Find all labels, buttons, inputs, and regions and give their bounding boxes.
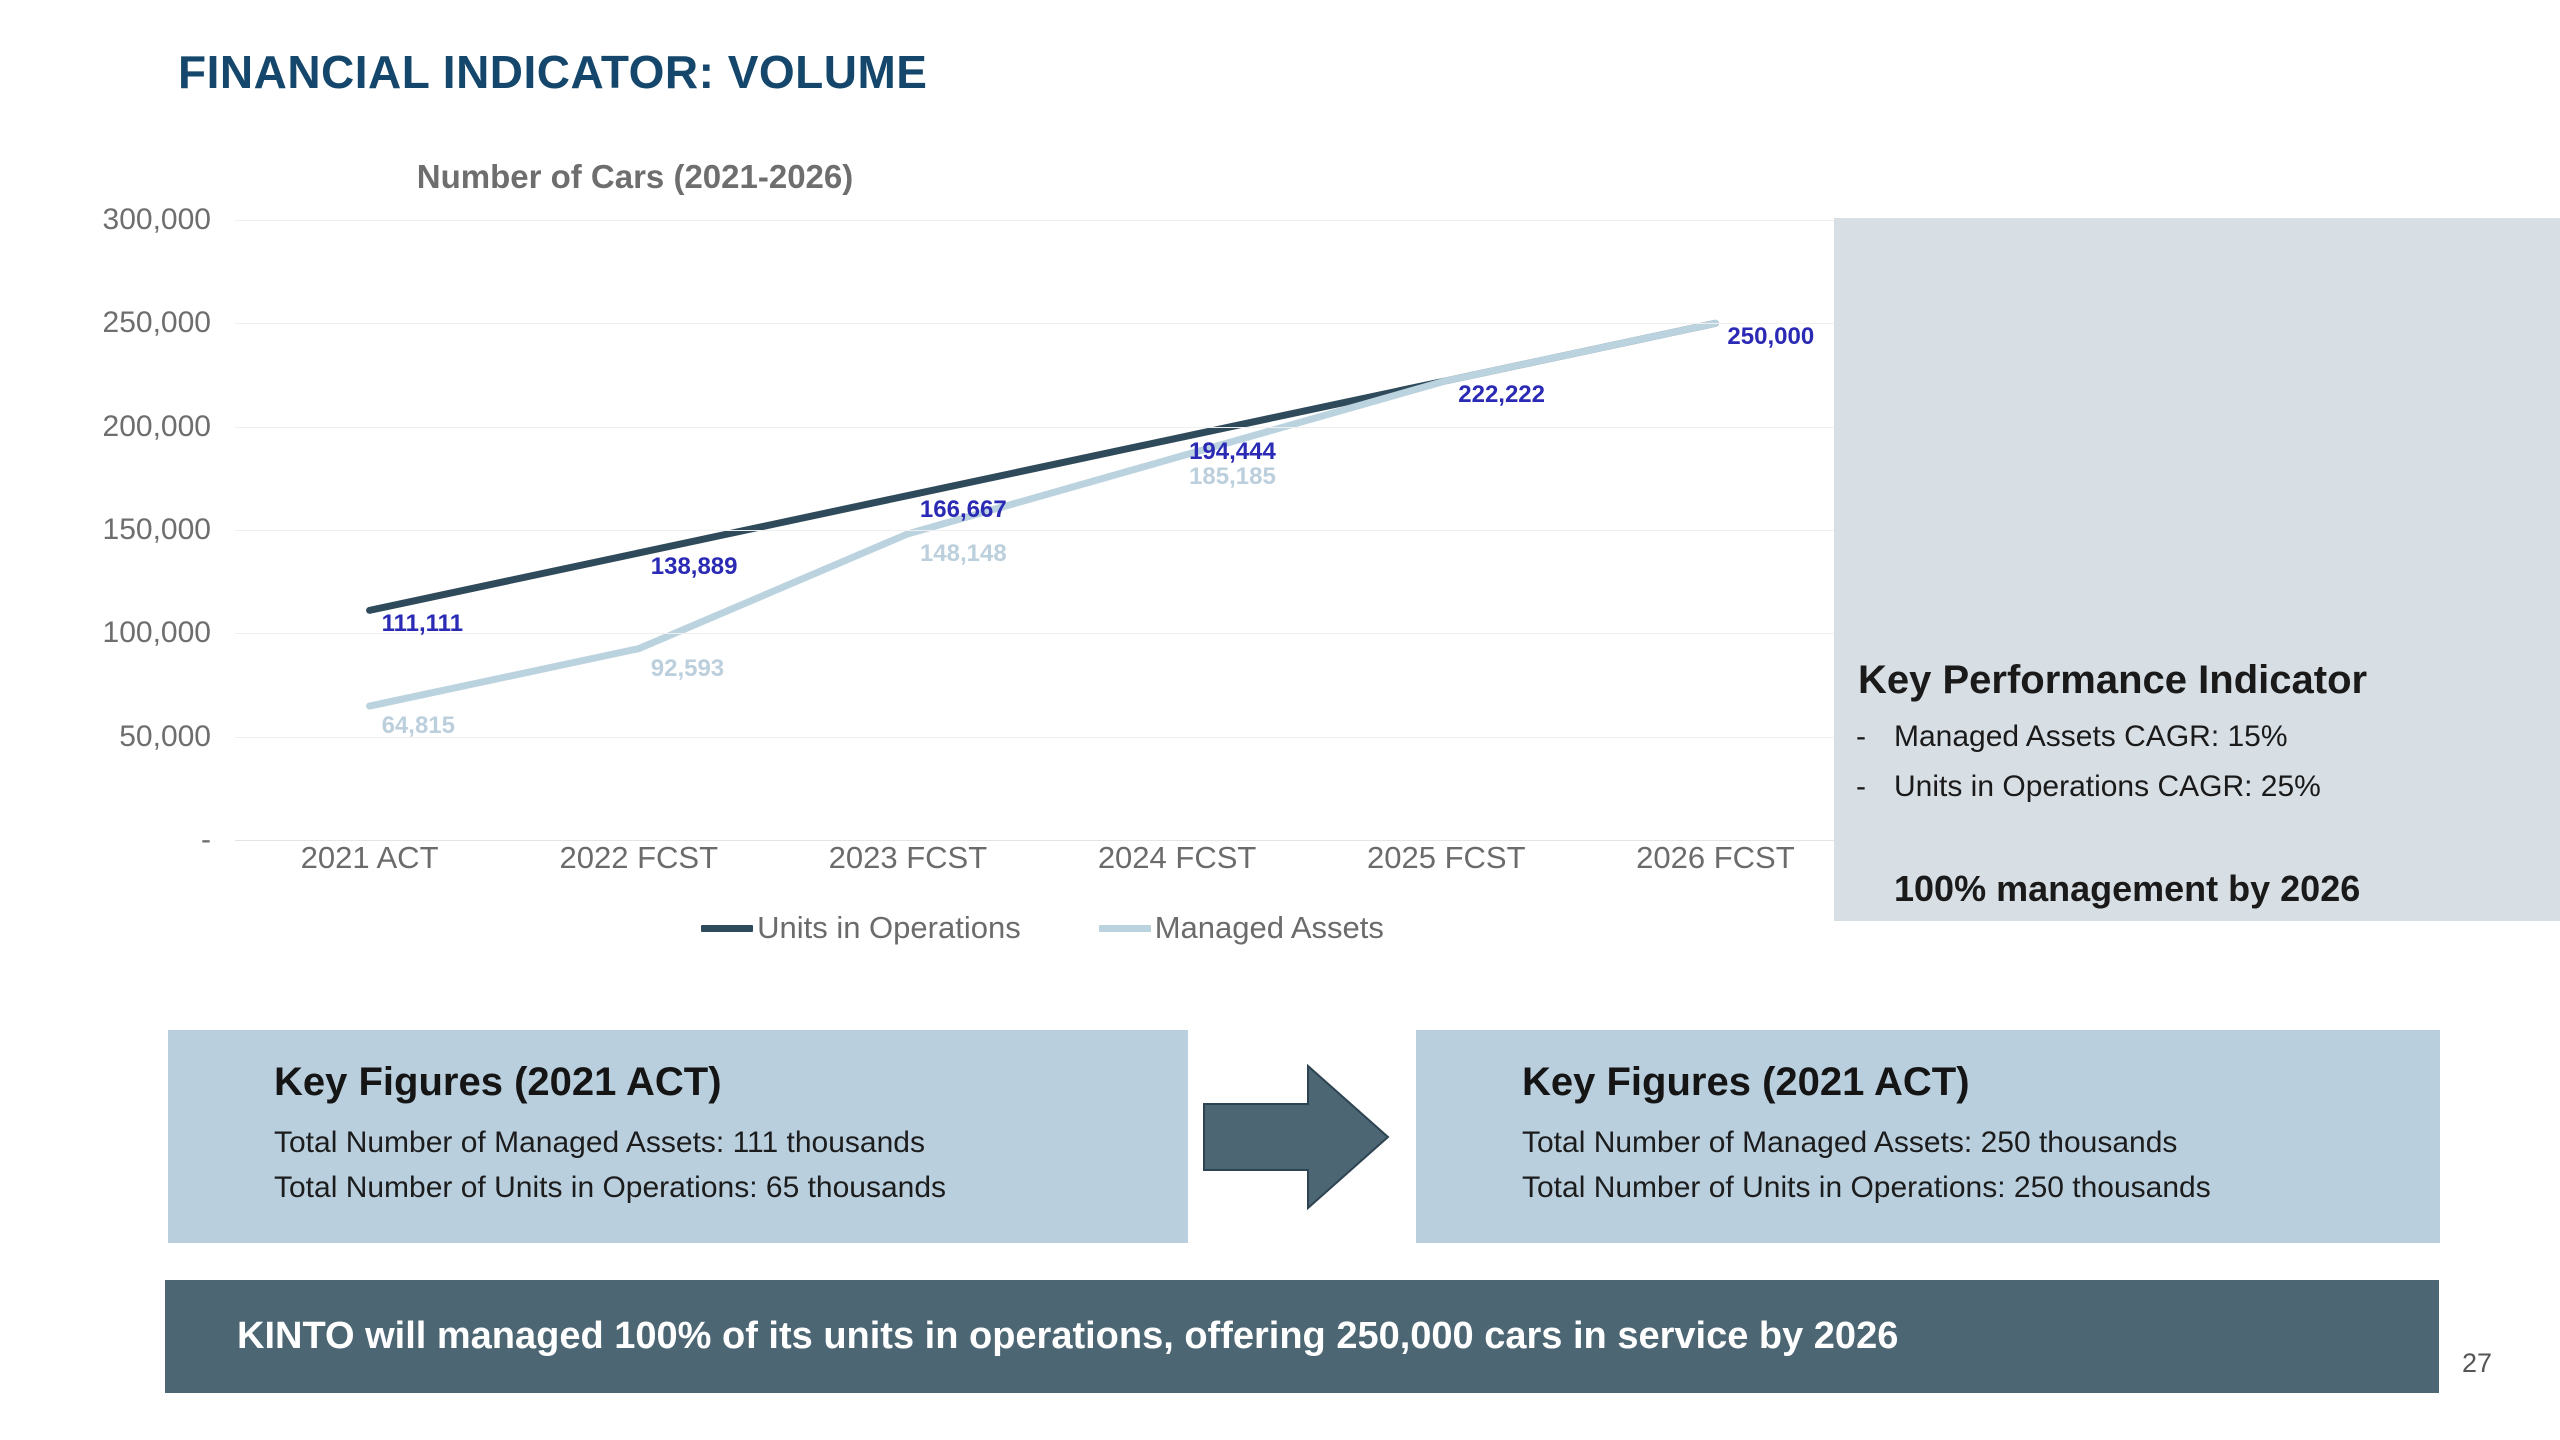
legend-swatch-icon bbox=[1099, 925, 1151, 932]
gridline bbox=[235, 323, 1850, 324]
key-figures-right-line-2: Total Number of Units in Operations: 250… bbox=[1522, 1171, 2211, 1205]
y-axis-tick-label: 100,000 bbox=[41, 616, 211, 650]
x-axis-tick-label: 2026 FCST bbox=[1636, 840, 1795, 876]
y-axis-tick-label: 50,000 bbox=[41, 720, 211, 754]
data-point-label: 222,222 bbox=[1458, 381, 1545, 409]
key-figures-right-line-1: Total Number of Managed Assets: 250 thou… bbox=[1522, 1126, 2177, 1160]
bottom-banner: KINTO will managed 100% of its units in … bbox=[165, 1280, 2439, 1393]
y-axis-tick-label: 250,000 bbox=[41, 306, 211, 340]
legend-label: Managed Assets bbox=[1155, 910, 1384, 946]
kpi-list-item: -Units in Operations CAGR: 25% bbox=[1856, 768, 2556, 806]
kpi-item-text: Managed Assets CAGR: 15% bbox=[1894, 718, 2288, 756]
y-axis-tick-label: - bbox=[41, 823, 211, 857]
page-title: FINANCIAL INDICATOR: VOLUME bbox=[178, 45, 927, 99]
data-point-label: 148,148 bbox=[920, 540, 1007, 568]
data-point-label: 166,667 bbox=[920, 496, 1007, 524]
data-point-label: 111,111 bbox=[382, 610, 463, 638]
chart-container: Number of Cars (2021-2026) -50,000100,00… bbox=[40, 150, 1840, 1000]
y-axis: -50,000100,000150,000200,000250,000300,0… bbox=[40, 220, 225, 840]
slide-root: FINANCIAL INDICATOR: VOLUME Number of Ca… bbox=[0, 0, 2560, 1440]
kpi-bullet-dash-icon: - bbox=[1856, 768, 1868, 806]
legend-label: Units in Operations bbox=[757, 910, 1021, 946]
chart-title: Number of Cars (2021-2026) bbox=[40, 158, 1230, 196]
y-axis-tick-label: 200,000 bbox=[41, 410, 211, 444]
kpi-panel: Key Performance Indicator -Managed Asset… bbox=[1834, 218, 2560, 921]
gridline bbox=[235, 530, 1850, 531]
kpi-bullet-dash-icon: - bbox=[1856, 718, 1868, 756]
gridline bbox=[235, 737, 1850, 738]
data-point-label: 250,000 bbox=[1727, 323, 1814, 351]
chart-plot-wrapper: -50,000100,000150,000200,000250,000300,0… bbox=[40, 220, 1840, 840]
data-point-label: 194,444 bbox=[1189, 438, 1276, 466]
gridline bbox=[235, 220, 1850, 221]
legend-item[interactable]: Managed Assets bbox=[1099, 910, 1384, 946]
x-axis-tick-label: 2024 FCST bbox=[1098, 840, 1257, 876]
kpi-item-text: Units in Operations CAGR: 25% bbox=[1894, 768, 2321, 806]
key-figures-left-line-2: Total Number of Units in Operations: 65 … bbox=[274, 1171, 946, 1205]
page-number: 27 bbox=[2462, 1348, 2492, 1379]
chart-legend: Units in OperationsManaged Assets bbox=[235, 910, 1850, 946]
y-axis-tick-label: 150,000 bbox=[41, 513, 211, 547]
kpi-panel-title: Key Performance Indicator bbox=[1858, 658, 2548, 703]
kpi-footer-statement: 100% management by 2026 bbox=[1894, 868, 2554, 910]
x-axis-tick-label: 2025 FCST bbox=[1367, 840, 1526, 876]
legend-swatch-icon bbox=[701, 925, 753, 932]
data-point-label: 92,593 bbox=[651, 655, 724, 683]
y-axis-tick-label: 300,000 bbox=[41, 203, 211, 237]
key-figures-left-title: Key Figures (2021 ACT) bbox=[274, 1060, 722, 1105]
key-figures-left-line-1: Total Number of Managed Assets: 111 thou… bbox=[274, 1126, 925, 1160]
x-axis: 2021 ACT2022 FCST2023 FCST2024 FCST2025 … bbox=[235, 840, 1850, 894]
kpi-list: -Managed Assets CAGR: 15%-Units in Opera… bbox=[1856, 718, 2556, 817]
bottom-banner-text: KINTO will managed 100% of its units in … bbox=[237, 1315, 1898, 1358]
legend-item[interactable]: Units in Operations bbox=[701, 910, 1021, 946]
gridline bbox=[235, 427, 1850, 428]
data-point-label: 185,185 bbox=[1189, 463, 1276, 491]
x-axis-tick-label: 2021 ACT bbox=[301, 840, 439, 876]
right-arrow-icon bbox=[1196, 1052, 1396, 1222]
key-figures-box-right: Key Figures (2021 ACT) Total Number of M… bbox=[1416, 1030, 2440, 1243]
key-figures-right-title: Key Figures (2021 ACT) bbox=[1522, 1060, 1970, 1105]
gridline bbox=[235, 633, 1850, 634]
data-point-label: 64,815 bbox=[382, 712, 455, 740]
kpi-list-item: -Managed Assets CAGR: 15% bbox=[1856, 718, 2556, 756]
x-axis-tick-label: 2023 FCST bbox=[829, 840, 988, 876]
key-figures-box-left: Key Figures (2021 ACT) Total Number of M… bbox=[168, 1030, 1188, 1243]
plot-area: 111,111138,889166,667194,444222,222250,0… bbox=[235, 220, 1850, 840]
data-point-label: 138,889 bbox=[651, 553, 738, 581]
x-axis-tick-label: 2022 FCST bbox=[559, 840, 718, 876]
